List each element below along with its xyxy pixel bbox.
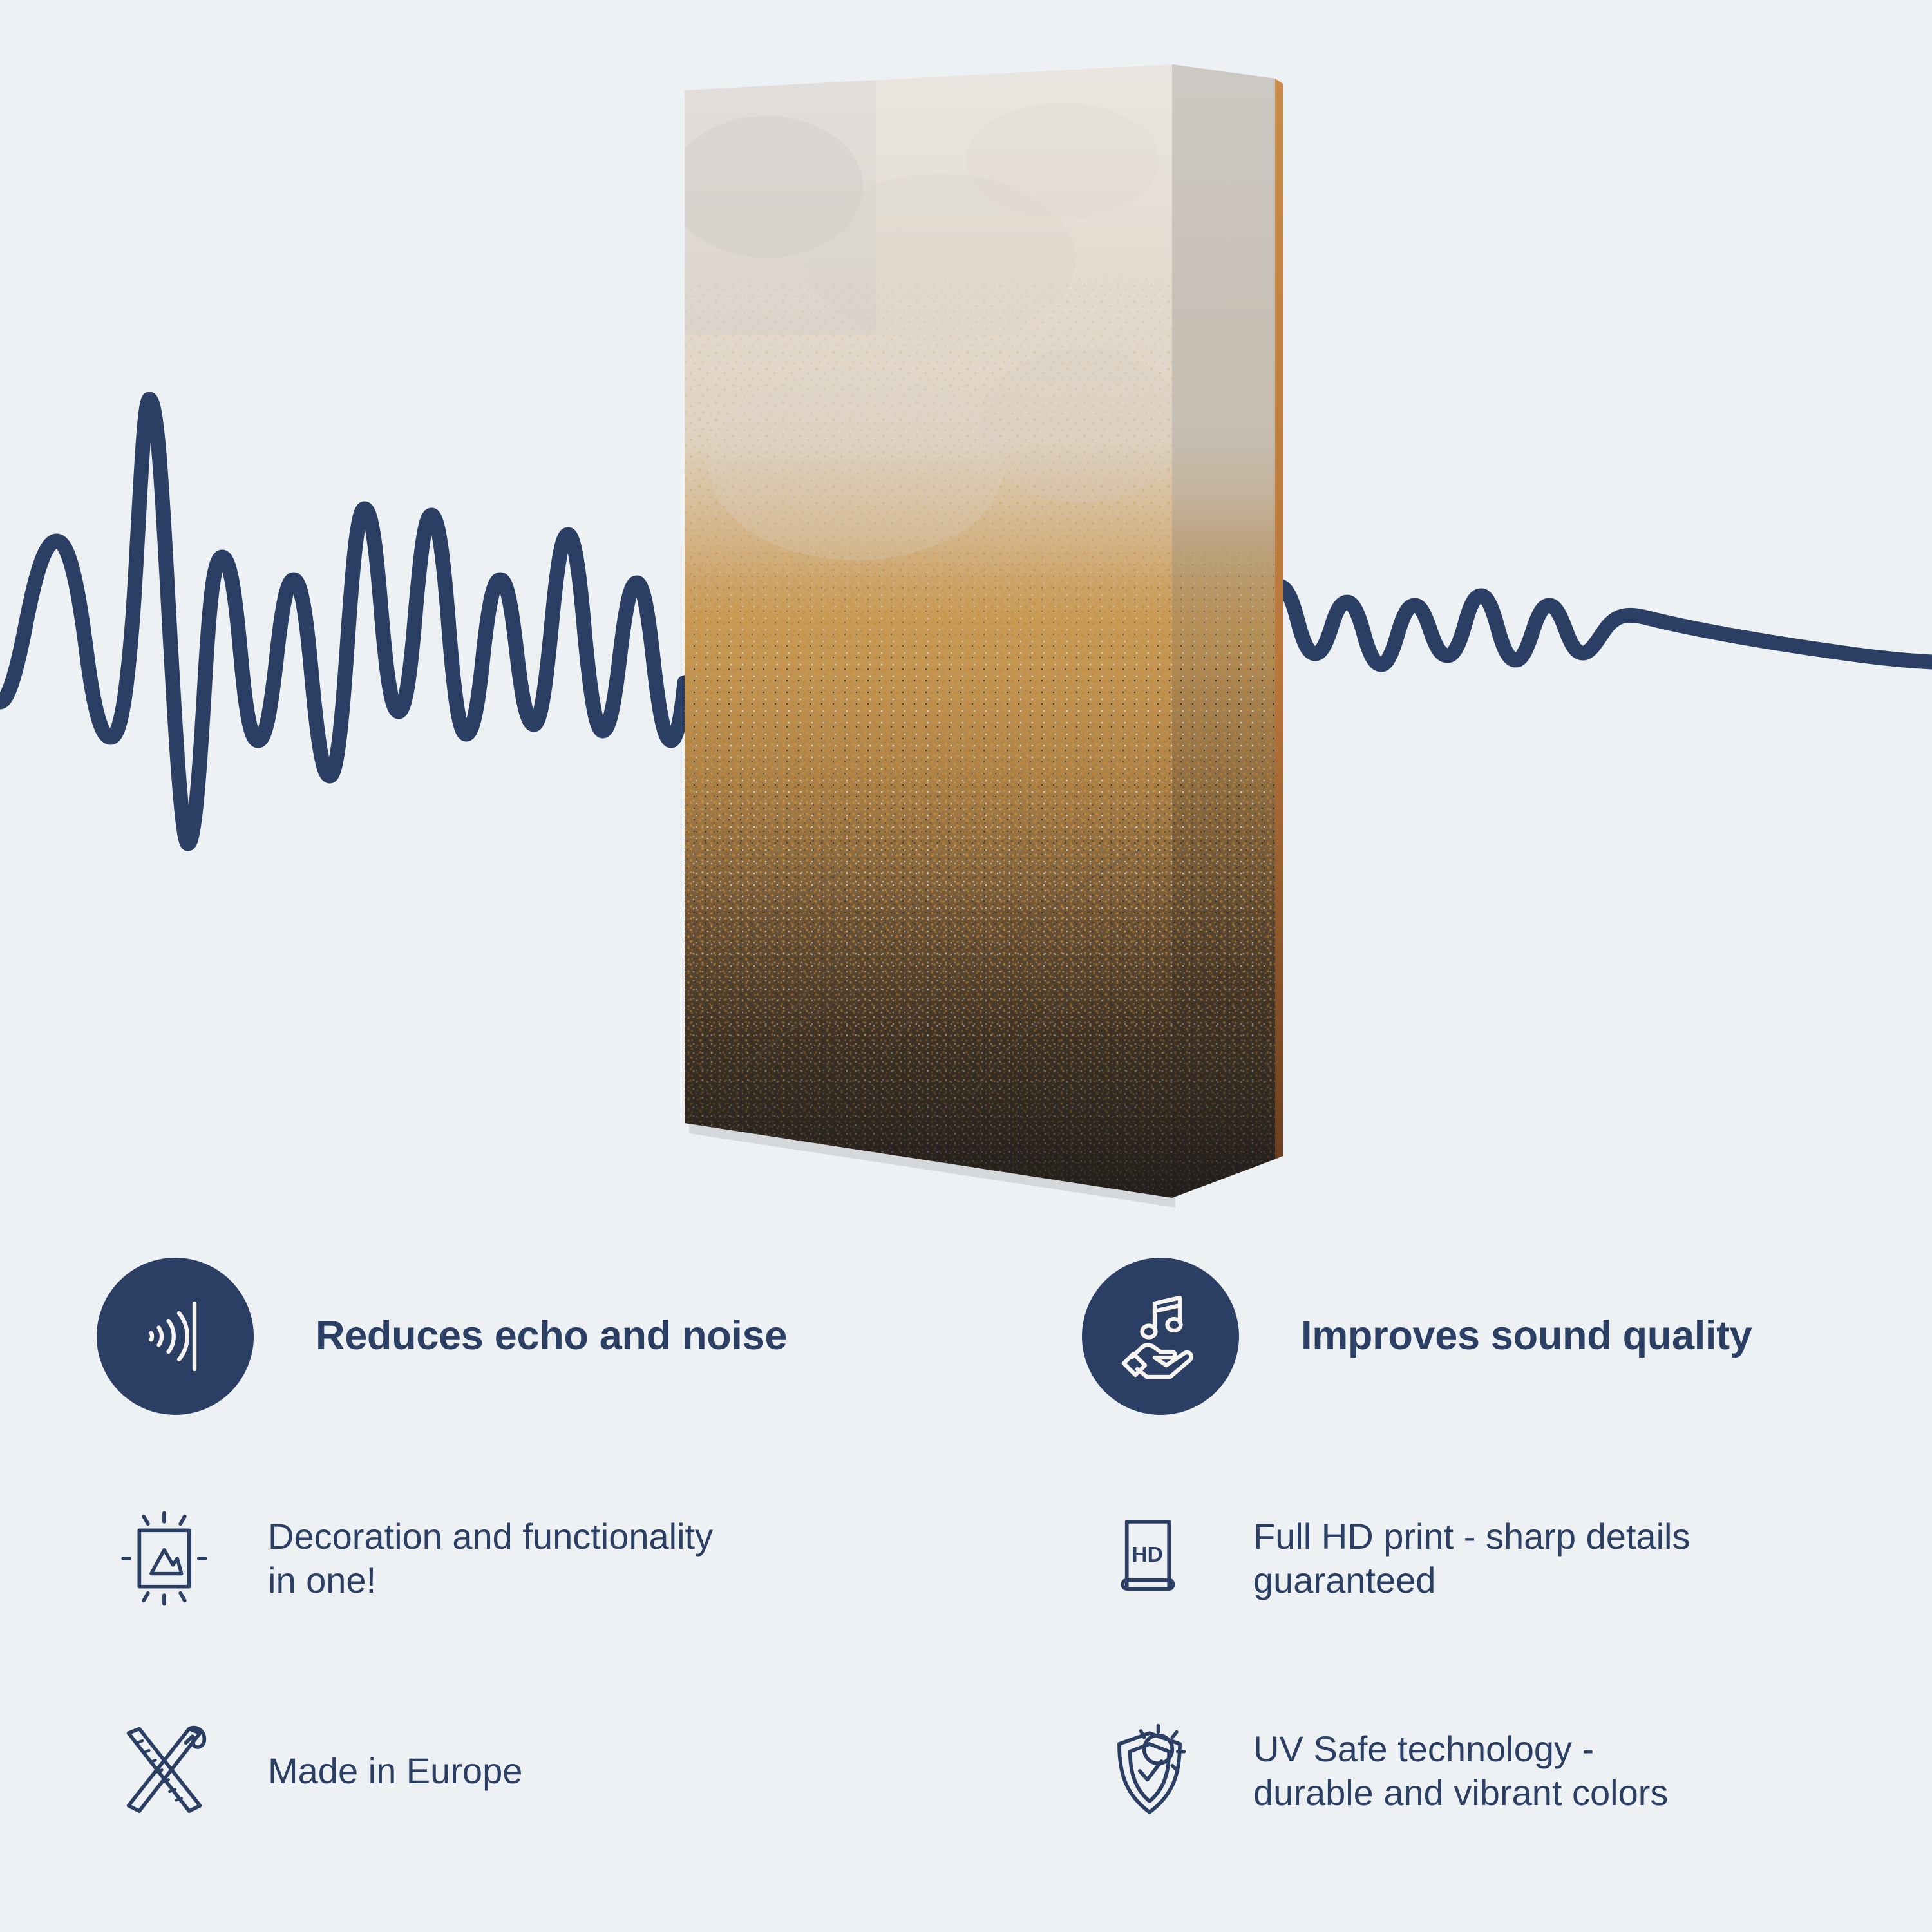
uv-shield-check-icon: [1082, 1703, 1217, 1839]
canvas-side-edge: [1172, 64, 1283, 1243]
waveform-path-left: [0, 399, 685, 844]
feature-badge-label: Improves sound quality: [1301, 1314, 1752, 1358]
product-feature-infographic: Reduces echo and noise: [0, 0, 1932, 1932]
canvas-front-face: [663, 64, 1185, 1243]
acoustic-canvas-panel: [663, 64, 1307, 1243]
feature-item-decoration: Decoration and functionality in one!: [97, 1475, 1011, 1642]
feature-item-label: Made in Europe: [268, 1749, 522, 1793]
feature-item-label: Decoration and functionality in one!: [268, 1515, 713, 1603]
music-note-in-hand-icon: [1082, 1258, 1239, 1415]
hd-print-icon: HD: [1082, 1491, 1217, 1626]
feature-list: Reduces echo and noise: [0, 1243, 1932, 1932]
framed-picture-shine-icon: [97, 1491, 232, 1626]
feature-item-uv-safe: UV Safe technology - durable and vibrant…: [1082, 1687, 1932, 1855]
feature-badge-reduces-echo: Reduces echo and noise: [97, 1256, 1011, 1417]
feature-item-label: Full HD print - sharp details guaranteed: [1253, 1515, 1690, 1603]
svg-text:HD: HD: [1132, 1543, 1163, 1567]
feature-badge-sound-quality: Improves sound quality: [1082, 1256, 1932, 1417]
feature-item-made-in-europe: Made in Europe: [97, 1687, 1011, 1855]
ruler-and-hammer-icon: [97, 1703, 232, 1839]
feature-badge-label: Reduces echo and noise: [316, 1314, 787, 1358]
waveform-path-right: [1278, 586, 1932, 665]
sound-absorption-icon: [97, 1258, 254, 1415]
feature-item-hd-print: HD Full HD print - sharp details guarant…: [1082, 1475, 1932, 1642]
feature-item-label: UV Safe technology - durable and vibrant…: [1253, 1727, 1668, 1815]
